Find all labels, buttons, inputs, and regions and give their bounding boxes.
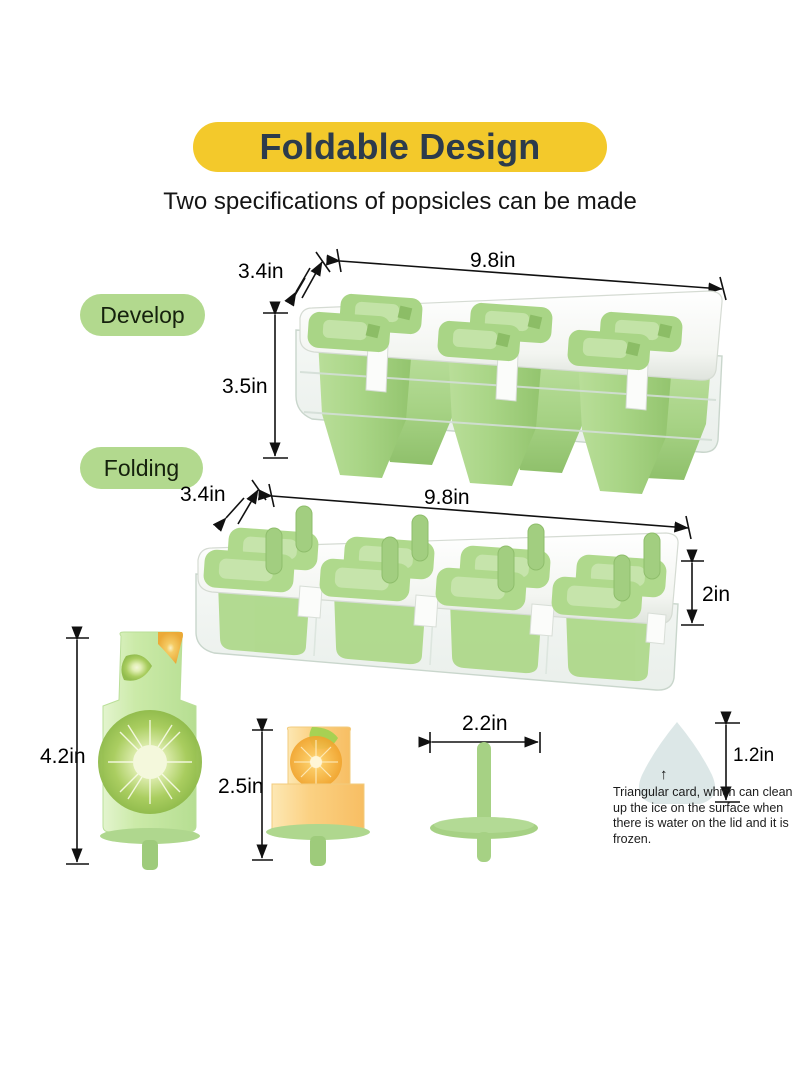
tray-tub-clear — [296, 330, 722, 452]
dimension-label-short-popsicle: 2.5in — [218, 775, 264, 799]
tall-popsicle-stick — [142, 840, 158, 870]
folded-mold-bodies — [218, 582, 652, 681]
mold-column-group-back — [368, 330, 712, 480]
tall-popsicle-disc — [100, 828, 200, 844]
stick-disc — [430, 817, 538, 839]
triangular-card-caption: Triangular card, which can clean up the … — [613, 785, 793, 848]
dimension-label-develop-height: 3.5in — [222, 375, 268, 399]
section-label-develop-text: Develop — [100, 302, 184, 329]
infographic-canvas: Foldable Design Two specifications of po… — [0, 0, 800, 1091]
lid-latch-tabs — [366, 344, 648, 410]
stick-upper-stem — [477, 742, 491, 824]
short-popsicle-top — [287, 727, 350, 784]
page-title: Foldable Design — [259, 129, 540, 165]
section-label-develop: Develop — [80, 294, 205, 336]
dimension-arrow-folding-length — [269, 484, 691, 539]
dimension-label-folding-length: 9.8in — [424, 486, 470, 510]
dimension-arrow-develop-depth — [291, 252, 330, 302]
dimension-arrow-develop-length — [337, 249, 726, 300]
dimension-label-card-height: 1.2in — [733, 745, 774, 767]
tall-popsicle-illustration — [66, 632, 202, 870]
caption-pointer-arrow-icon: ↑ — [660, 766, 668, 783]
folded-lid-latch-tabs — [298, 586, 666, 644]
dimension-label-develop-depth: 3.4in — [238, 260, 284, 284]
folded-tray-tub — [196, 574, 678, 690]
folded-mold-cap-row-front — [203, 528, 643, 620]
dimension-arrow-folding-depth — [226, 480, 266, 524]
folded-mold-cap-row-back — [227, 506, 667, 598]
mold-cap-row-front — [307, 311, 651, 371]
short-popsicle-illustration — [252, 727, 370, 866]
tray-lid — [300, 291, 722, 380]
stick-lower-stem — [477, 832, 491, 862]
folded-tray-illustration — [196, 480, 704, 690]
dimension-label-folding-depth: 3.4in — [180, 483, 226, 507]
folded-tray-lid — [198, 533, 678, 624]
page-subtitle: Two specifications of popsicles can be m… — [0, 188, 800, 216]
short-popsicle-disc — [266, 824, 370, 840]
popsicle-stick-illustration — [430, 732, 540, 862]
dimension-label-develop-length: 9.8in — [470, 249, 516, 273]
tall-popsicle-body — [103, 632, 196, 832]
page-title-pill: Foldable Design — [193, 122, 607, 172]
expanded-tray-illustration — [263, 249, 726, 494]
short-popsicle-bottom — [272, 784, 364, 834]
dimension-arrow-folding-height — [681, 561, 704, 625]
dimension-label-stick-width: 2.2in — [462, 712, 508, 736]
mold-column-group-front — [318, 340, 672, 494]
dimension-label-folding-height: 2in — [702, 583, 730, 607]
mold-cap-row-back — [339, 293, 683, 353]
dimension-label-tall-popsicle: 4.2in — [40, 745, 86, 769]
short-popsicle-stick — [310, 836, 326, 866]
section-label-folding-text: Folding — [104, 455, 179, 482]
